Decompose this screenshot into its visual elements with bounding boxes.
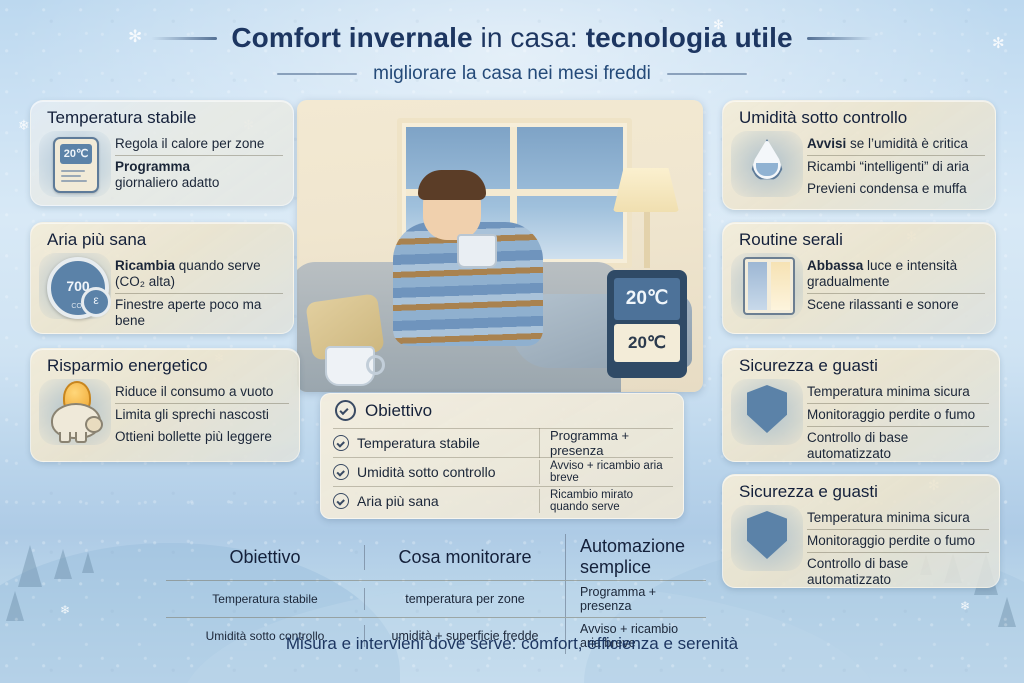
- objective-row: Temperatura stabile Programma + presenza: [333, 428, 673, 457]
- table-row: Temperatura stabile temperatura per zone…: [166, 580, 706, 617]
- card-title: Routine serali: [739, 230, 843, 250]
- title-part-1: Comfort invernale: [231, 22, 472, 53]
- objective-heading-label: Obiettivo: [365, 401, 432, 421]
- objective-goal-label: Temperatura stabile: [357, 435, 480, 451]
- card-title: Sicurezza e guasti: [739, 356, 878, 376]
- objective-row: Aria più sana Ricambio mirato quando ser…: [333, 486, 673, 515]
- tablet-top-reading: 20℃: [614, 278, 680, 320]
- shield-alert-icon: [731, 379, 803, 445]
- card-risparmio-energetico[interactable]: Risparmio energetico Riduce il consumo a…: [30, 348, 300, 462]
- objective-goal-label: Aria più sana: [357, 493, 439, 509]
- card-line: Monitoraggio perdite o fumo: [807, 529, 989, 552]
- shield-alert-icon: [731, 505, 803, 571]
- card-sicurezza-e-guasti-2[interactable]: Sicurezza e guasti Temperatura minima si…: [722, 474, 1000, 588]
- card-line: Ricambia quando serve (CO₂ alta): [115, 255, 283, 293]
- column-header: Automazione semplice: [565, 534, 706, 580]
- card-line: Controllo di base automatizzato: [807, 426, 989, 462]
- card-line: Ricambi “intelligenti” di aria: [807, 155, 985, 178]
- objective-goal: Temperatura stabile: [333, 435, 539, 451]
- co2-gauge-icon: 700CO₂ ε: [39, 253, 111, 319]
- page-subtitle: migliorare la casa nei mesi freddi: [373, 63, 651, 85]
- card-sicurezza-e-guasti-1[interactable]: Sicurezza e guasti Temperatura minima si…: [722, 348, 1000, 462]
- subtitle-row: migliorare la casa nei mesi freddi: [0, 63, 1024, 85]
- mug-in-hands: [457, 234, 497, 268]
- card-line: Avvisi se l’umidità è critica: [807, 133, 985, 155]
- check-circle-icon: [335, 400, 356, 421]
- card-body: Temperatura minima sicura Monitoraggio p…: [807, 507, 989, 581]
- card-body: Ricambia quando serve (CO₂ alta) Finestr…: [115, 255, 283, 327]
- card-body: Avvisi se l’umidità è critica Ricambi “i…: [807, 133, 985, 203]
- table-cell: Programma + presenza: [565, 581, 706, 617]
- card-line-text: se l’umidità è critica: [850, 136, 968, 151]
- card-title: Aria più sana: [47, 230, 146, 250]
- table-cell: temperatura per zone: [364, 588, 565, 610]
- card-title: Umidità sotto controllo: [739, 108, 907, 128]
- table-header-row: Obiettivo Cosa monitorare Automazione se…: [166, 534, 706, 580]
- objective-action: Ricambio mirato quando serve: [539, 489, 673, 513]
- card-line: Previeni condensa e muffa: [807, 178, 985, 200]
- objective-heading: Obiettivo: [335, 400, 432, 421]
- smart-thermostat-tablet[interactable]: 20℃ 20℃: [607, 270, 687, 378]
- card-routine-serali[interactable]: Routine serali Abbassa luce e intensità …: [722, 222, 996, 334]
- card-line-lead: Abbassa: [807, 258, 863, 273]
- subtitle-rule-right: [667, 73, 747, 75]
- lamp-shade: [613, 168, 679, 212]
- objective-goal: Umidità sotto controllo: [333, 464, 539, 480]
- poster-header: Comfort invernale in casa: tecnologia ut…: [0, 22, 1024, 85]
- central-illustration: 20℃ 20℃: [297, 100, 703, 392]
- check-circle-icon: [333, 435, 349, 451]
- card-title: Temperatura stabile: [47, 108, 196, 128]
- title-row: Comfort invernale in casa: tecnologia ut…: [0, 22, 1024, 54]
- card-title: Risparmio energetico: [47, 356, 208, 376]
- infographic-poster: ✻ ✻ ✻ ❄ ✻ ❄ ✻ ✻ ❄ ✻ ❄ ❄ Comfort invernal…: [0, 0, 1024, 683]
- objective-goal: Aria più sana: [333, 493, 539, 509]
- snowflake-icon: ❄: [60, 604, 70, 616]
- column-header: Obiettivo: [166, 545, 364, 570]
- objective-action: Programma + presenza: [539, 428, 673, 458]
- check-circle-icon: [333, 493, 349, 509]
- objective-panel: Obiettivo Temperatura stabile Programma …: [320, 393, 684, 519]
- table-cell: Temperatura stabile: [166, 588, 364, 610]
- card-aria-piu-sana[interactable]: Aria più sana 700CO₂ ε Ricambia quando s…: [30, 222, 294, 334]
- card-temperatura-stabile[interactable]: Temperatura stabile 20℃ Regola il calore…: [30, 100, 294, 206]
- card-line: Controllo di base automatizzato: [807, 552, 989, 588]
- card-line: Regola il calore per zone: [115, 133, 283, 155]
- eco-badge-icon: ε: [81, 287, 111, 317]
- card-line: Ottieni bollette più leggere: [115, 426, 289, 448]
- snowflake-icon: ❄: [960, 600, 970, 612]
- card-line: Temperatura minima sicura: [807, 507, 989, 529]
- page-title: Comfort invernale in casa: tecnologia ut…: [231, 22, 792, 54]
- card-line: Programmagiornaliero adatto: [115, 155, 283, 194]
- card-title: Sicurezza e guasti: [739, 482, 878, 502]
- thermostat-reading: 20℃: [60, 144, 92, 164]
- title-rule-left: [151, 37, 217, 40]
- card-line-lead: Avvisi: [807, 136, 846, 151]
- card-line: Temperatura minima sicura: [807, 381, 989, 403]
- subtitle-rule-left: [277, 73, 357, 75]
- card-line: Riduce il consumo a vuoto: [115, 381, 289, 403]
- title-part-3: tecnologia utile: [586, 22, 793, 53]
- card-body: Abbassa luce e intensità gradualmente Sc…: [807, 255, 985, 327]
- lamp-stand: [644, 212, 650, 268]
- title-part-2: in casa:: [473, 22, 586, 53]
- window-evening-icon: [731, 253, 803, 319]
- card-umidita-sotto-controllo[interactable]: Umidità sotto controllo Avvisi se l’umid…: [722, 100, 996, 210]
- title-rule-right: [807, 37, 873, 40]
- card-line: Finestre aperte poco ma bene: [115, 293, 283, 332]
- objective-action: Avviso + ricambio aria breve: [539, 460, 673, 484]
- card-body: Regola il calore per zone Programmagiorn…: [115, 133, 283, 199]
- thermostat-icon: 20℃: [39, 131, 111, 197]
- piggy-bank-bulb-icon: [39, 379, 111, 445]
- card-line: Monitoraggio perdite o fumo: [807, 403, 989, 426]
- mug-on-table: [325, 346, 375, 386]
- card-line-text: giornaliero adatto: [115, 175, 219, 190]
- check-circle-icon: [333, 464, 349, 480]
- card-body: Temperatura minima sicura Monitoraggio p…: [807, 381, 989, 455]
- card-line-lead: Ricambia: [115, 258, 175, 273]
- person-hair: [418, 170, 486, 200]
- summary-table: Obiettivo Cosa monitorare Automazione se…: [166, 534, 706, 624]
- card-line: Limita gli sprechi nascosti: [115, 403, 289, 426]
- humidity-drop-icon: [731, 131, 803, 197]
- snowflake-icon: ❄: [18, 118, 30, 132]
- objective-goal-label: Umidità sotto controllo: [357, 464, 496, 480]
- objective-row: Umidità sotto controllo Avviso + ricambi…: [333, 457, 673, 486]
- card-line: Scene rilassanti e sonore: [807, 293, 985, 316]
- footer-tagline: Misura e intervieni dove serve: comfort,…: [0, 634, 1024, 654]
- card-body: Riduce il consumo a vuoto Limita gli spr…: [115, 381, 289, 455]
- column-header: Cosa monitorare: [364, 545, 565, 570]
- tablet-bottom-reading: 20℃: [614, 324, 680, 362]
- card-line-lead: Programma: [115, 159, 190, 174]
- card-line: Abbassa luce e intensità gradualmente: [807, 255, 985, 293]
- objective-rows: Temperatura stabile Programma + presenza…: [333, 428, 673, 515]
